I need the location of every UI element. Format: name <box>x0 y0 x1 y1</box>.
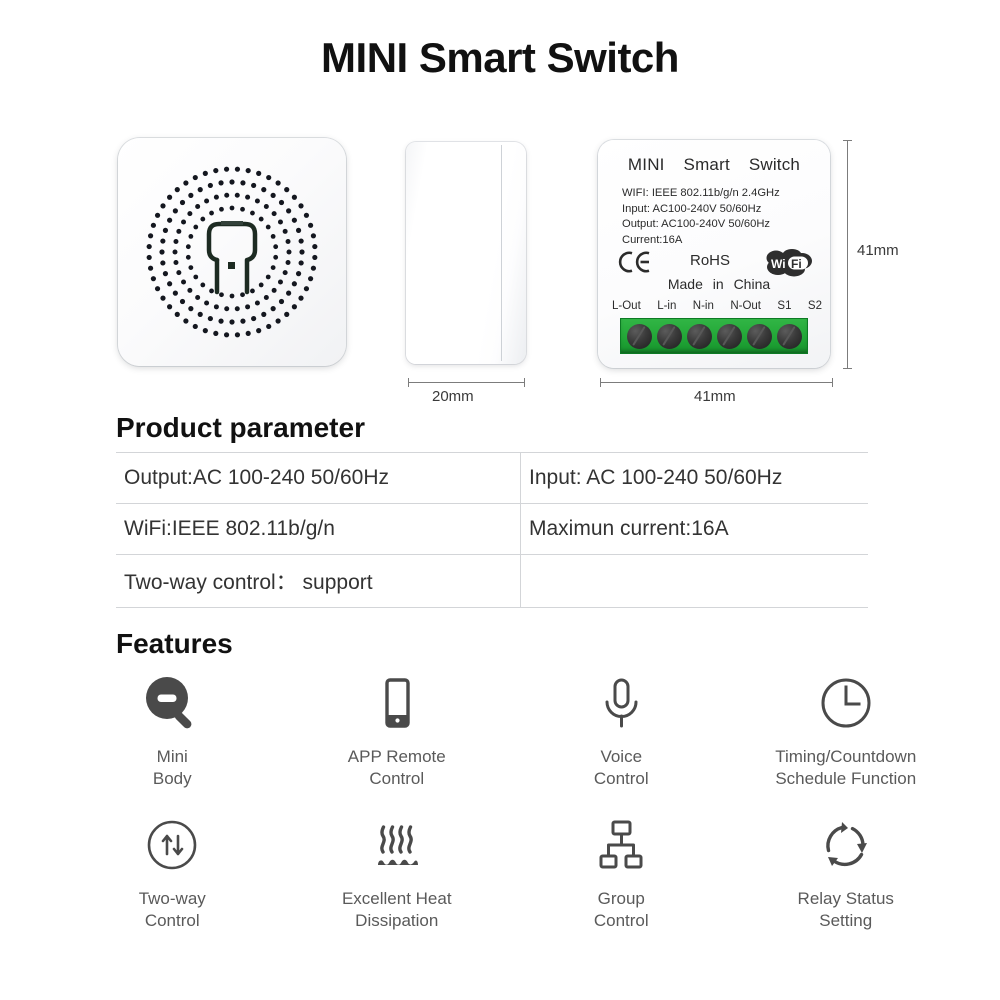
product-label-view: MINI Smart Switch WIFI: IEEE 802.11b/g/n… <box>598 140 830 368</box>
feature-label: Two-way Control <box>139 888 206 932</box>
wifi-logo-wi-text: Wi <box>771 257 786 271</box>
feature-label: Group Control <box>594 888 649 932</box>
dim-line-body-height <box>847 140 848 368</box>
feature-item-app-remote-control: APP Remote Control <box>285 672 510 790</box>
terminal-label-n-in: N-in <box>693 300 714 312</box>
feature-label: Mini Body <box>153 746 192 790</box>
terminal-screw-block <box>620 318 808 354</box>
dim-cap-body-bottom <box>843 368 852 369</box>
product-front-view <box>118 138 346 366</box>
product-side-view <box>406 142 526 364</box>
spec-line-current: Current:16A <box>622 233 780 249</box>
dimension-label-body-height: 41mm <box>857 242 899 259</box>
feature-item-timing-countdown: Timing/Countdown Schedule Function <box>734 672 959 790</box>
table-row: WiFi:IEEE 802.11b/g/n Maximun current:16… <box>116 504 868 555</box>
china-word: China <box>734 276 771 292</box>
wifi-logo-fi-text: Fi <box>791 257 802 271</box>
terminal-screw <box>687 324 712 349</box>
in-word: in <box>713 276 724 292</box>
dim-line-side-width <box>408 382 524 383</box>
product-parameter-table: Output:AC 100-240 50/60Hz Input: AC 100-… <box>116 452 868 608</box>
terminal-label-s2: S2 <box>808 300 822 312</box>
dimension-label-body-width: 41mm <box>694 388 736 405</box>
made-word: Made <box>668 276 703 292</box>
param-cell-empty <box>521 555 869 608</box>
microphone-icon <box>592 672 650 734</box>
feature-item-two-way-control: Two-way Control <box>60 814 285 932</box>
features-grid: Mini Body APP Remote Control Voice Contr… <box>60 672 958 932</box>
table-row: Output:AC 100-240 50/60Hz Input: AC 100-… <box>116 453 868 504</box>
param-cell-output: Output:AC 100-240 50/60Hz <box>116 453 521 504</box>
feature-label: Relay Status Setting <box>798 888 894 932</box>
side-seam-line <box>501 145 502 361</box>
clock-icon <box>817 672 875 734</box>
device-brand-line: MINI Smart Switch <box>598 155 830 175</box>
feature-label: Excellent Heat Dissipation <box>342 888 452 932</box>
dimension-label-side-width: 20mm <box>432 388 474 405</box>
param-cell-two-way: Two-way control： support <box>116 555 521 608</box>
smartphone-icon <box>368 672 426 734</box>
network-hierarchy-icon <box>592 814 650 876</box>
terminal-label-n-out: N-Out <box>730 300 761 312</box>
terminal-label-l-out: L-Out <box>612 300 641 312</box>
terminal-screw <box>777 324 802 349</box>
feature-label: Voice Control <box>594 746 649 790</box>
spec-line-wifi: WIFI: IEEE 802.11b/g/n 2.4GHz <box>622 186 780 202</box>
terminal-label-row: L-Out L-in N-in N-Out S1 S2 <box>612 300 822 312</box>
brand-word-smart: Smart <box>684 155 730 174</box>
dim-line-body-width <box>600 382 832 383</box>
param-cell-wifi: WiFi:IEEE 802.11b/g/n <box>116 504 521 555</box>
wifi-logo-icon: Wi Fi <box>762 248 814 278</box>
terminal-screw <box>627 324 652 349</box>
terminal-screw <box>717 324 742 349</box>
brand-word-switch: Switch <box>749 155 800 174</box>
feature-label: Timing/Countdown Schedule Function <box>775 746 916 790</box>
ce-mark-icon <box>618 250 652 274</box>
table-row: Two-way control： support <box>116 555 868 608</box>
terminal-label-l-in: L-in <box>657 300 676 312</box>
param-cell-max-current: Maximun current:16A <box>521 504 869 555</box>
feature-item-mini-body: Mini Body <box>60 672 285 790</box>
rohs-mark-label: RoHS <box>690 252 730 269</box>
heat-waves-icon <box>368 814 426 876</box>
spec-line-output: Output: AC100-240V 50/60Hz <box>622 217 780 233</box>
feature-item-group-control: Group Control <box>509 814 734 932</box>
magnifier-minus-icon <box>143 672 201 734</box>
feature-label: APP Remote Control <box>348 746 446 790</box>
feature-item-voice-control: Voice Control <box>509 672 734 790</box>
param-cell-input: Input: AC 100-240 50/60Hz <box>521 453 869 504</box>
spec-line-input: Input: AC100-240V 50/60Hz <box>622 202 780 218</box>
dim-cap-left <box>408 378 409 387</box>
plug-antenna-trace-icon <box>197 204 267 300</box>
made-in-china-label: Made in China <box>598 276 830 292</box>
dim-cap-body-top <box>843 140 852 141</box>
feature-item-heat-dissipation: Excellent Heat Dissipation <box>285 814 510 932</box>
up-down-arrows-circle-icon <box>143 814 201 876</box>
brand-word-mini: MINI <box>628 155 665 174</box>
terminal-label-s1: S1 <box>777 300 791 312</box>
feature-item-relay-status-setting: Relay Status Setting <box>734 814 959 932</box>
product-parameter-heading: Product parameter <box>116 412 365 444</box>
dim-cap-body-right <box>832 378 833 387</box>
dim-cap-right <box>524 378 525 387</box>
circular-arrows-icon <box>817 814 875 876</box>
product-image-band: 20mm MINI Smart Switch WIFI: IEEE 802.11… <box>0 130 1000 415</box>
features-heading: Features <box>116 628 233 660</box>
page-title: MINI Smart Switch <box>0 34 1000 82</box>
device-spec-lines: WIFI: IEEE 802.11b/g/n 2.4GHz Input: AC1… <box>622 186 780 248</box>
dim-cap-body-left <box>600 378 601 387</box>
terminal-screw <box>747 324 772 349</box>
terminal-screw <box>657 324 682 349</box>
